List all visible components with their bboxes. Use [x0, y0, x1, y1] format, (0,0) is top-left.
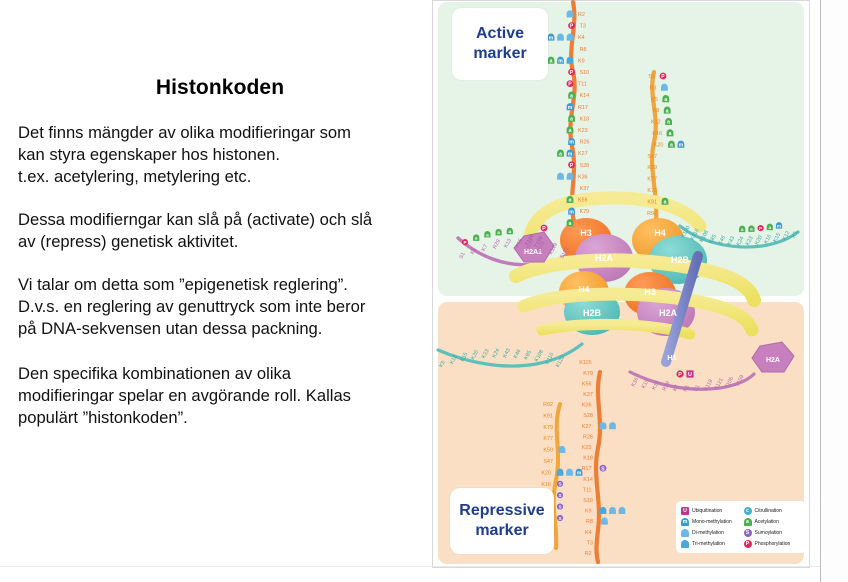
- modification-di-methylation-icon: [557, 33, 564, 40]
- modification-glyph: a: [666, 108, 669, 114]
- modification-glyph: a: [550, 59, 553, 65]
- residue-label: K23: [578, 128, 588, 134]
- modification-glyph: S: [558, 493, 561, 498]
- residue-label: K27: [582, 424, 592, 430]
- residue-label: K36: [578, 174, 588, 180]
- modification-glyph: m: [679, 143, 684, 149]
- residue-label: S47: [647, 154, 657, 160]
- residue-label: K5: [651, 97, 658, 103]
- modification-glyph: a: [669, 131, 672, 137]
- modification-di-methylation-icon: [619, 507, 626, 514]
- residue-label: S1: [693, 384, 701, 393]
- residue-label: K4: [585, 530, 592, 536]
- residue-label: K56: [582, 381, 592, 387]
- residue-label: K9: [578, 58, 585, 64]
- modification-di-methylation-icon: [567, 10, 574, 17]
- modification-glyph: m: [569, 209, 574, 215]
- modification-glyph: a: [486, 232, 489, 237]
- modification-glyph: m: [558, 59, 563, 65]
- modification-glyph: P: [661, 74, 665, 80]
- modification-di-methylation-icon: [567, 173, 574, 180]
- residue-label: S47: [543, 459, 553, 465]
- residue-label: K115: [578, 221, 590, 227]
- modification-glyph: a: [664, 200, 667, 206]
- residue-label: R26: [583, 434, 593, 440]
- legend-phosphorylation-icon: P: [744, 540, 752, 548]
- modification-glyph: a: [670, 143, 673, 149]
- label-h3-top: H3: [580, 228, 592, 238]
- label-h4-bottom: H4: [579, 284, 590, 294]
- nucleosome-core: H3 H4 H2A H2B H4 H3 H2B H2A H2A1 H2A H1: [514, 198, 794, 372]
- residue-label: R8: [580, 47, 587, 53]
- modification-glyph: a: [750, 227, 753, 232]
- legend-label: Sumoylation: [755, 530, 782, 536]
- legend-item: aAcetylation: [744, 516, 803, 527]
- label-h2b-bottom: H2B: [583, 308, 602, 318]
- residue-label: K20: [654, 142, 664, 148]
- residue-label: K36: [630, 377, 640, 388]
- residue-label: K91: [647, 199, 657, 205]
- residue-label: K27: [578, 151, 588, 157]
- slide-text-column: Histonkoden Det finns mängder av olika m…: [0, 0, 430, 582]
- residue-label: R17: [578, 105, 588, 111]
- modification-glyph: U: [688, 372, 692, 378]
- body-paragraph-1: Det finns mängder av olika modifieringar…: [18, 100, 422, 188]
- body-paragraph-2: Dessa modifierngar kan slå på (activate)…: [18, 188, 422, 253]
- modification-glyph: P: [759, 226, 762, 231]
- residue-label: K56: [578, 198, 588, 204]
- legend-item: mMono-methylation: [681, 516, 740, 527]
- residue-label: T11: [583, 487, 592, 493]
- residue-label: R2: [585, 551, 592, 557]
- legend-label: Phosphorylation: [755, 541, 791, 547]
- modification-di-methylation-icon: [661, 84, 668, 91]
- legend-item: cCitrullination: [744, 505, 803, 516]
- residue-label: K79: [580, 209, 590, 215]
- residue-label: K20: [541, 470, 551, 476]
- modification-glyph: m: [777, 223, 781, 228]
- legend-sumoylation-icon: S: [744, 529, 752, 537]
- legend-item: Tri-methylation: [681, 538, 740, 549]
- label-h2a-top: H2A: [595, 253, 614, 263]
- modification-glyph: S: [558, 516, 561, 521]
- residue-label: K5: [682, 384, 690, 393]
- residue-label: K7: [481, 244, 489, 253]
- residue-label: K20: [470, 350, 480, 361]
- modification-di-methylation-icon: [566, 469, 573, 476]
- legend-label: Citrullination: [755, 508, 782, 514]
- residue-label: K77: [647, 177, 657, 183]
- residue-label: K24: [491, 348, 501, 359]
- residue-label: R17: [582, 466, 592, 472]
- legend-mono-methylation-icon: m: [681, 518, 689, 526]
- modification-glyph: a: [570, 117, 573, 123]
- legend-item: Di-methylation: [681, 527, 740, 538]
- label-h4-top: H4: [654, 228, 666, 238]
- residue-label: K59: [543, 448, 553, 454]
- modification-legend: UUbiquitinationcCitrullinationmMono-meth…: [676, 501, 806, 553]
- modification-glyph: m: [577, 471, 582, 477]
- legend-label: Mono-methylation: [692, 519, 732, 525]
- modification-di-methylation-icon: [567, 33, 574, 40]
- modification-tri-methylation-icon: [567, 57, 574, 64]
- legend-acetylation-icon: a: [744, 518, 752, 526]
- residue-label: R92: [647, 211, 657, 217]
- modification-glyph: m: [568, 151, 573, 157]
- residue-label: K16: [541, 482, 551, 488]
- repressive-marker-label: Repressive marker: [450, 488, 554, 554]
- modification-glyph: S: [601, 466, 605, 472]
- residue-label: K85: [523, 350, 533, 361]
- residue-label: S10: [580, 70, 590, 76]
- residue-label: K77: [543, 436, 553, 442]
- modification-di-methylation-icon: [559, 446, 566, 453]
- modification-di-methylation-icon: [601, 517, 608, 524]
- residue-label: S1: [458, 251, 466, 260]
- legend-item: PPhosphorylation: [744, 538, 803, 549]
- modification-tri-methylation-icon: [557, 469, 564, 476]
- modification-glyph: a: [664, 97, 667, 103]
- modification-glyph: a: [569, 221, 572, 227]
- modification-di-methylation-icon: [609, 507, 616, 514]
- repressive-marker-line2: marker: [475, 521, 528, 541]
- modification-glyph: a: [769, 225, 772, 230]
- active-marker-label: Active marker: [452, 8, 548, 80]
- residue-label: K14: [583, 477, 593, 483]
- modification-glyph: P: [568, 82, 572, 88]
- modification-glyph: a: [569, 128, 572, 134]
- modification-glyph: a: [559, 151, 562, 157]
- label-h2a-bottom: H2A: [659, 308, 678, 318]
- residue-label: K23: [481, 348, 491, 359]
- modification-glyph: a: [509, 229, 512, 234]
- label-h2b-top: H2B: [671, 255, 690, 265]
- modification-glyph: a: [667, 120, 670, 126]
- residue-label: K5: [438, 360, 446, 369]
- residue-label: K13: [503, 238, 513, 249]
- repressive-marker-line1: Repressive: [459, 501, 544, 521]
- modification-glyph: m: [568, 105, 573, 111]
- residue-label: K16: [652, 131, 662, 137]
- residue-label: K46: [513, 348, 523, 359]
- residue-label: K91: [543, 413, 553, 419]
- histone-code-figure: H3 H4 H2A H2B H4 H3 H2B H2A H2A1 H2A H1 …: [432, 0, 810, 568]
- label-h1: H1: [667, 353, 677, 362]
- h3-tail-repressive: [596, 372, 600, 562]
- label-h2a-right: H2A: [766, 357, 780, 364]
- residue-label: K18: [580, 116, 590, 122]
- residue-label: K18: [583, 456, 593, 462]
- residue-label: K23: [745, 235, 755, 246]
- legend-ubiquitination-icon: U: [681, 507, 689, 515]
- residue-label: K12: [651, 120, 661, 126]
- residue-label: K23: [582, 445, 592, 451]
- residue-label: S28: [583, 413, 593, 419]
- modification-glyph: a: [497, 230, 500, 235]
- modification-glyph: P: [678, 372, 682, 378]
- legend-label: Acetylation: [755, 519, 779, 525]
- residue-label: R8: [586, 519, 593, 525]
- residue-label: K4: [578, 35, 585, 41]
- active-marker-line1: Active: [476, 24, 524, 44]
- h4-tail-repressive: [554, 404, 560, 548]
- right-gutter: [821, 0, 848, 582]
- residue-label: R26: [580, 140, 590, 146]
- body-paragraph-3: Vi talar om detta som ”epigenetisk regle…: [18, 253, 422, 340]
- legend-citrullination-icon: c: [744, 507, 752, 515]
- page-title: Histonkoden: [18, 0, 422, 100]
- legend-item: UUbiquitination: [681, 505, 740, 516]
- modification-glyph: a: [570, 93, 573, 99]
- legend-tri-methylation-icon: [681, 540, 689, 548]
- residue-label: R2: [578, 12, 585, 18]
- modification-glyph: P: [542, 226, 546, 232]
- modification-glyph: a: [741, 227, 744, 232]
- modification-glyph: P: [463, 240, 466, 245]
- modification-glyph: m: [569, 140, 574, 146]
- residue-label: S28: [580, 163, 590, 169]
- residue-label: K59: [647, 165, 657, 171]
- residue-label: R92: [543, 402, 553, 408]
- active-marker-line2: marker: [473, 44, 526, 64]
- residue-label: T3: [580, 24, 586, 30]
- residue-label: R29: [492, 239, 502, 251]
- legend-label: Di-methylation: [692, 530, 724, 536]
- residue-label: K14: [580, 93, 590, 99]
- residue-label: K37: [580, 186, 590, 192]
- modification-di-methylation-icon: [600, 422, 607, 429]
- legend-label: Tri-methylation: [692, 541, 725, 547]
- legend-label: Ubiquitination: [692, 508, 722, 514]
- modification-tri-methylation-icon: [600, 507, 607, 514]
- residue-label: T11: [578, 82, 587, 88]
- presentation-slide: Histonkoden Det finns mängder av olika m…: [0, 0, 848, 582]
- modification-glyph: a: [475, 236, 478, 241]
- body-paragraph-4: Den specifika kombinationen av olika mod…: [18, 341, 422, 429]
- residue-label: T3: [587, 540, 593, 546]
- residue-label: K24: [736, 236, 746, 247]
- residue-label: T106: [724, 376, 735, 390]
- residue-label: R3: [649, 85, 656, 91]
- modification-glyph: S: [558, 505, 561, 510]
- modification-di-methylation-icon: [557, 173, 564, 180]
- residue-label: K108: [534, 349, 545, 363]
- modification-glyph: S: [558, 482, 561, 487]
- modification-glyph: m: [549, 35, 554, 41]
- residue-label: K79: [583, 371, 593, 377]
- modification-di-methylation-icon: [609, 422, 616, 429]
- slide-bottom-edge: [0, 566, 820, 567]
- label-h3-bottom: H3: [644, 287, 656, 297]
- legend-di-methylation-icon: [681, 529, 689, 537]
- residue-label: K37: [583, 392, 593, 398]
- legend-item: SSumoylation: [744, 527, 803, 538]
- residue-label: K43: [502, 348, 512, 359]
- residue-label: S1: [648, 74, 655, 80]
- modification-glyph: P: [570, 163, 574, 169]
- residue-label: K36: [582, 403, 592, 409]
- residue-label: S10: [583, 498, 593, 504]
- nucleosome-diagram: H3 H4 H2A H2B H4 H3 H2B H2A H2A1 H2A H1 …: [432, 0, 810, 568]
- modification-glyph: a: [569, 198, 572, 204]
- residue-label: K8: [653, 108, 660, 114]
- residue-label: K79: [543, 425, 553, 431]
- residue-label: K79: [647, 188, 657, 194]
- residue-label: K9: [585, 509, 592, 515]
- residue-label: K115: [579, 360, 591, 366]
- modification-glyph: P: [570, 24, 574, 30]
- modification-glyph: P: [570, 70, 574, 76]
